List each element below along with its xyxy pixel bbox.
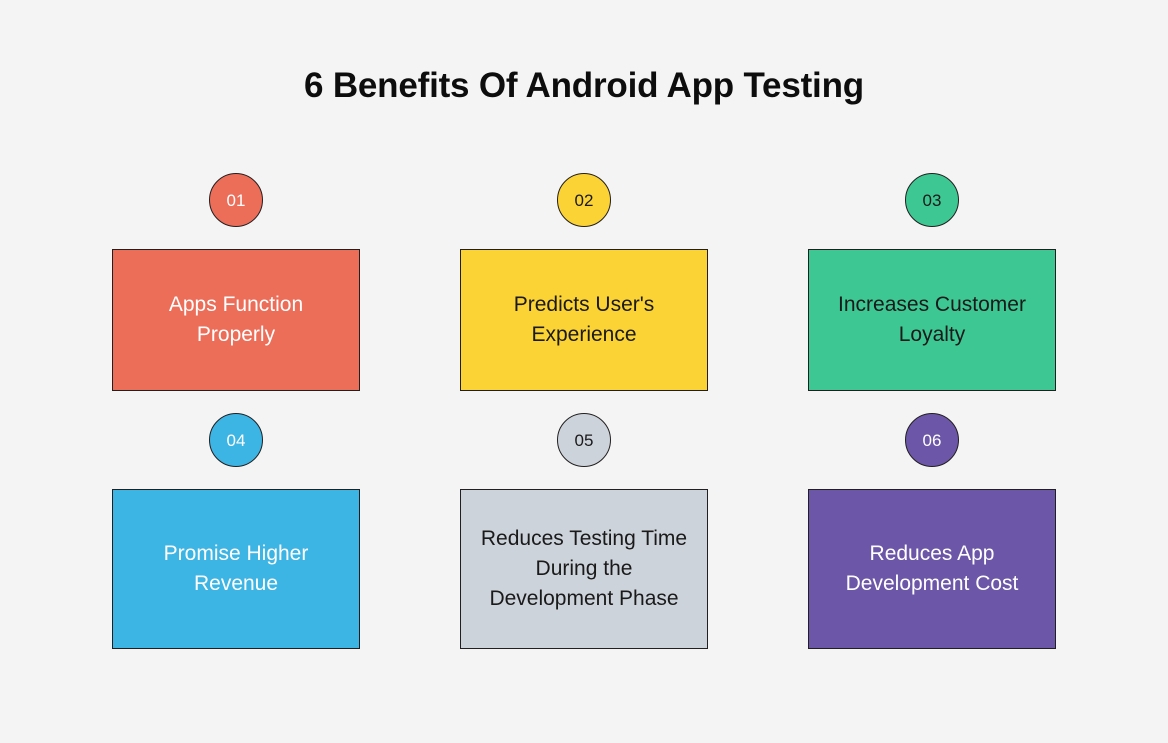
benefit-number-label: 04 bbox=[227, 432, 246, 449]
benefit-card-05: Reduces Testing Time During the Developm… bbox=[460, 489, 708, 649]
benefit-card-label: Promise Higher Revenue bbox=[127, 539, 345, 599]
benefits-grid: 01 Apps Function Properly 02 Predicts Us… bbox=[112, 173, 1056, 649]
benefit-card-label: Reduces App Development Cost bbox=[823, 539, 1041, 599]
benefit-card-label: Reduces Testing Time During the Developm… bbox=[475, 524, 693, 613]
benefit-card-01: Apps Function Properly bbox=[112, 249, 360, 391]
benefit-item-01: 01 Apps Function Properly bbox=[112, 173, 360, 391]
benefit-item-05: 05 Reduces Testing Time During the Devel… bbox=[460, 413, 708, 649]
benefit-number-badge-03: 03 bbox=[905, 173, 959, 227]
benefit-number-label: 01 bbox=[227, 192, 246, 209]
benefit-item-02: 02 Predicts User's Experience bbox=[460, 173, 708, 391]
benefit-card-03: Increases Customer Loyalty bbox=[808, 249, 1056, 391]
benefit-number-label: 02 bbox=[575, 192, 594, 209]
page-title: 6 Benefits Of Android App Testing bbox=[0, 66, 1168, 106]
benefit-number-badge-06: 06 bbox=[905, 413, 959, 467]
benefit-number-badge-05: 05 bbox=[557, 413, 611, 467]
benefit-card-label: Predicts User's Experience bbox=[475, 290, 693, 350]
benefit-number-badge-02: 02 bbox=[557, 173, 611, 227]
benefit-card-label: Increases Customer Loyalty bbox=[823, 290, 1041, 350]
benefit-item-03: 03 Increases Customer Loyalty bbox=[808, 173, 1056, 391]
infographic-canvas: 6 Benefits Of Android App Testing 01 App… bbox=[0, 0, 1168, 743]
benefit-card-04: Promise Higher Revenue bbox=[112, 489, 360, 649]
benefit-number-badge-01: 01 bbox=[209, 173, 263, 227]
benefit-card-label: Apps Function Properly bbox=[127, 290, 345, 350]
benefit-card-02: Predicts User's Experience bbox=[460, 249, 708, 391]
benefit-item-06: 06 Reduces App Development Cost bbox=[808, 413, 1056, 649]
benefit-number-label: 06 bbox=[923, 432, 942, 449]
benefit-number-label: 03 bbox=[923, 192, 942, 209]
benefit-number-label: 05 bbox=[575, 432, 594, 449]
benefit-item-04: 04 Promise Higher Revenue bbox=[112, 413, 360, 649]
benefit-number-badge-04: 04 bbox=[209, 413, 263, 467]
benefit-card-06: Reduces App Development Cost bbox=[808, 489, 1056, 649]
